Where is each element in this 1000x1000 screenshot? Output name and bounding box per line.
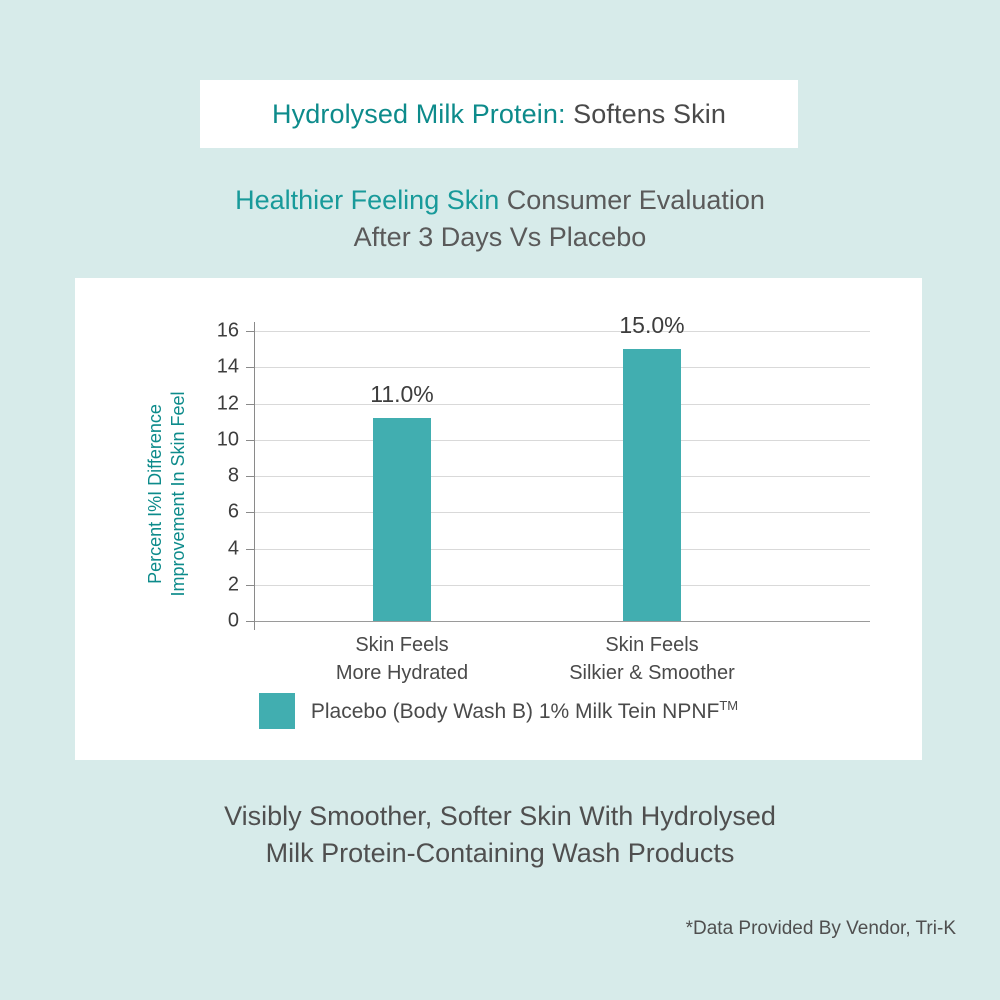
ytick-label-4: 4 [228, 537, 239, 560]
category-label-0-line1: Skin Feels [336, 631, 468, 659]
gridline-0-baseline: 0 [255, 621, 870, 622]
legend-label: Placebo (Body Wash B) 1% Milk Tein NPNFT… [311, 698, 738, 724]
y-axis-title-line2: Improvement In Skin Feel [167, 344, 190, 644]
category-label-1-line1: Skin Feels [569, 631, 735, 659]
chart-card: Percent I%I Difference Improvement In Sk… [75, 278, 922, 760]
plot-area: 16 14 12 10 8 6 4 2 0 11.0% Skin Feels M… [255, 331, 870, 621]
ytick-label-16: 16 [217, 320, 239, 343]
ytick-label-12: 12 [217, 392, 239, 415]
footer-caption: Visibly Smoother, Softer Skin With Hydro… [0, 798, 1000, 872]
ytick-label-14: 14 [217, 356, 239, 379]
ytick-mark-10 [246, 440, 255, 441]
ytick-mark-2 [246, 585, 255, 586]
page-title-accent: Hydrolysed Milk Protein: [272, 99, 566, 129]
ytick-label-2: 2 [228, 573, 239, 596]
chart-subtitle: Healthier Feeling Skin Consumer Evaluati… [0, 182, 1000, 256]
ytick-mark-12 [246, 404, 255, 405]
category-label-1-line2: Silkier & Smoother [569, 659, 735, 687]
chart-subtitle-line1: Healthier Feeling Skin Consumer Evaluati… [0, 182, 1000, 219]
chart-subtitle-line2: After 3 Days Vs Placebo [0, 219, 1000, 256]
ytick-mark-14 [246, 367, 255, 368]
data-source-footnote: *Data Provided By Vendor, Tri-K [686, 918, 956, 940]
bar-skin-feels-more-hydrated[interactable]: 11.0% Skin Feels More Hydrated [373, 418, 431, 621]
ytick-mark-0 [246, 621, 255, 622]
ytick-label-10: 10 [217, 428, 239, 451]
legend-label-trademark: TM [719, 698, 738, 713]
category-label-0-line2: More Hydrated [336, 659, 468, 687]
category-label-1: Skin Feels Silkier & Smoother [569, 631, 735, 687]
page-title-rest: Softens Skin [566, 99, 726, 129]
y-axis-title: Percent I%I Difference Improvement In Sk… [144, 344, 190, 644]
ytick-mark-8 [246, 476, 255, 477]
chart-subtitle-rest: Consumer Evaluation [499, 185, 765, 215]
ytick-label-6: 6 [228, 501, 239, 524]
chart-legend: Placebo (Body Wash B) 1% Milk Tein NPNFT… [75, 693, 922, 729]
legend-label-main: Placebo (Body Wash B) 1% Milk Tein NPNF [311, 700, 719, 723]
bar-group: 11.0% Skin Feels More Hydrated 15.0% Ski… [255, 331, 870, 621]
footer-caption-line2: Milk Protein-Containing Wash Products [0, 835, 1000, 872]
chart-subtitle-accent: Healthier Feeling Skin [235, 185, 499, 215]
category-label-0: Skin Feels More Hydrated [336, 631, 468, 687]
bar-skin-feels-silkier-and-smoother[interactable]: 15.0% Skin Feels Silkier & Smoother [623, 349, 681, 621]
bar-value-label-1: 15.0% [619, 312, 684, 339]
title-card: Hydrolysed Milk Protein: Softens Skin [200, 80, 798, 148]
bar-value-label-0: 11.0% [370, 381, 434, 408]
ytick-mark-6 [246, 512, 255, 513]
ytick-label-0: 0 [228, 610, 239, 633]
footer-caption-line1: Visibly Smoother, Softer Skin With Hydro… [0, 798, 1000, 835]
ytick-mark-16 [246, 331, 255, 332]
page-title: Hydrolysed Milk Protein: Softens Skin [272, 99, 726, 130]
ytick-mark-4 [246, 549, 255, 550]
legend-swatch-icon [259, 693, 295, 729]
y-axis-title-line1: Percent I%I Difference [144, 344, 167, 644]
ytick-label-8: 8 [228, 465, 239, 488]
